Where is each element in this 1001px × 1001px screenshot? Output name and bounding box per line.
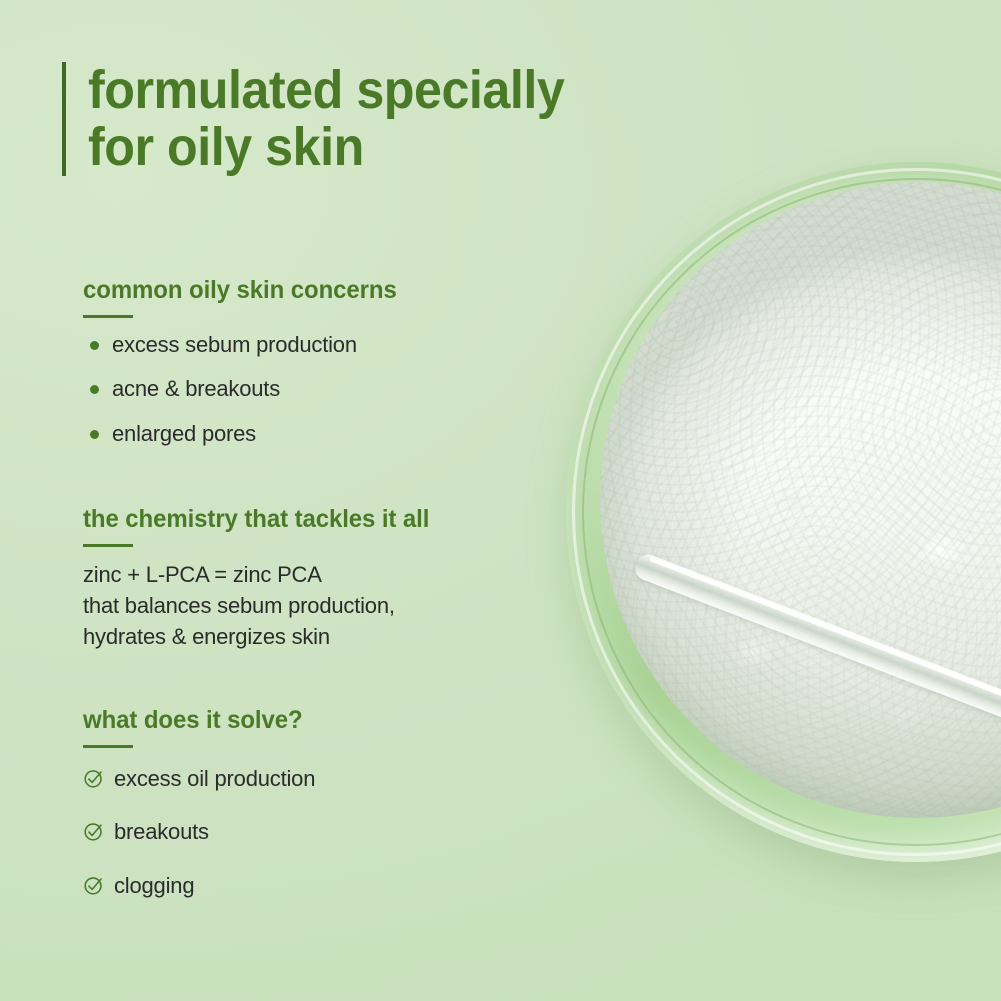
white-powder — [600, 182, 1001, 818]
section-chemistry: the chemistry that tackles it all zinc +… — [83, 505, 623, 652]
powder-grain-texture — [600, 182, 1001, 818]
poster-canvas: formulated specially for oily skin commo… — [0, 0, 1001, 1001]
list-item: excess sebum production — [83, 332, 623, 358]
circle-check-icon — [83, 820, 105, 842]
list-item: excess oil production — [83, 766, 623, 792]
dish-interior — [600, 182, 1001, 818]
section-title: common oily skin concerns — [83, 276, 601, 305]
section-underline — [83, 315, 133, 318]
section-common-concerns: common oily skin concerns excess sebum p… — [83, 276, 623, 465]
list-item-label: excess oil production — [114, 766, 315, 791]
section-title: what does it solve? — [83, 706, 601, 735]
dot-icon — [90, 341, 99, 350]
list-item: clogging — [83, 873, 623, 899]
dish-rim-inner-edge — [582, 178, 1001, 846]
section-underline — [83, 544, 133, 547]
text-column: formulated specially for oily skin commo… — [0, 0, 640, 1001]
circle-check-icon — [83, 767, 105, 789]
glass-rod-highlight — [649, 556, 1001, 704]
section-title: the chemistry that tackles it all — [83, 505, 601, 534]
dot-icon — [90, 385, 99, 394]
section-underline — [83, 745, 133, 748]
glass-rod — [631, 551, 1001, 733]
list-item-label: enlarged pores — [112, 421, 256, 446]
list-item-label: excess sebum production — [112, 332, 357, 357]
powder-shading — [600, 182, 1001, 818]
headline-block: formulated specially for oily skin — [62, 62, 600, 176]
circle-check-icon — [83, 874, 105, 896]
list-item-label: acne & breakouts — [112, 376, 280, 401]
list-item: enlarged pores — [83, 421, 623, 447]
chemistry-body-text: zinc + L-PCA = zinc PCA that balances se… — [83, 559, 623, 653]
list-item-label: breakouts — [114, 819, 209, 844]
solves-list: excess oil production breakouts clogging — [83, 766, 623, 899]
section-what-it-solves: what does it solve? excess oil productio… — [83, 706, 623, 926]
list-item: breakouts — [83, 819, 623, 845]
list-item-label: clogging — [114, 873, 194, 898]
dot-icon — [90, 430, 99, 439]
page-title: formulated specially for oily skin — [88, 62, 564, 176]
dish-drop-shadow — [580, 202, 1001, 892]
list-item: acne & breakouts — [83, 376, 623, 402]
concerns-list: excess sebum production acne & breakouts… — [83, 332, 623, 447]
